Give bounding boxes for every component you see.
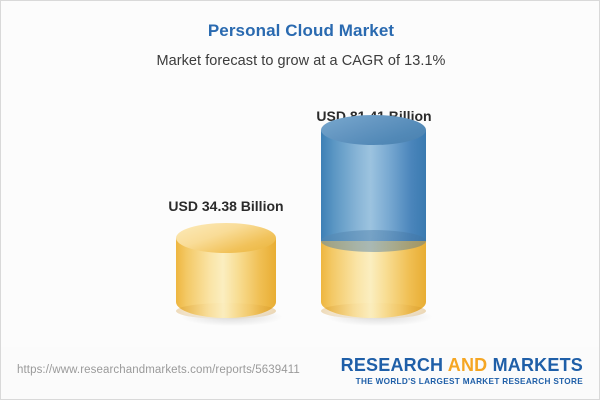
cylinder-segment-seam-2032 xyxy=(321,230,426,252)
bar-segment-base-2032 xyxy=(321,241,426,318)
cylinder-2025[interactable] xyxy=(176,238,276,318)
infographic-card: Personal Cloud Market Market forecast to… xyxy=(0,0,600,400)
brand-logo-wordmark: RESEARCH AND MARKETS xyxy=(341,355,583,375)
bar-segment-base-2025 xyxy=(176,238,276,318)
brand-logo-tagline: THE WORLD'S LARGEST MARKET RESEARCH STOR… xyxy=(341,376,583,388)
value-label-2025: USD 34.38 Billion xyxy=(111,198,341,214)
cylinder-bottom-shade-2025 xyxy=(176,303,276,319)
logo-text-and: AND xyxy=(448,355,488,375)
brand-logo[interactable]: RESEARCH AND MARKETS THE WORLD'S LARGEST… xyxy=(341,355,583,388)
logo-text-markets: MARKETS xyxy=(487,355,583,375)
chart-plot-area: USD 34.38 Billion 2025 USD 81.41 Billion xyxy=(1,81,600,346)
logo-text-research: RESEARCH xyxy=(341,355,448,375)
cylinder-top-cap-2025 xyxy=(176,223,276,253)
bar-segment-growth-2032 xyxy=(321,130,426,241)
footer-bar: https://www.researchandmarkets.com/repor… xyxy=(1,347,599,399)
chart-title: Personal Cloud Market xyxy=(1,21,600,41)
cylinder-bottom-shade-2032 xyxy=(321,303,426,319)
chart-subtitle: Market forecast to grow at a CAGR of 13.… xyxy=(1,53,600,69)
cylinder-2032[interactable] xyxy=(321,130,426,318)
cylinder-top-cap-2032 xyxy=(321,115,426,145)
source-url[interactable]: https://www.researchandmarkets.com/repor… xyxy=(17,364,300,376)
